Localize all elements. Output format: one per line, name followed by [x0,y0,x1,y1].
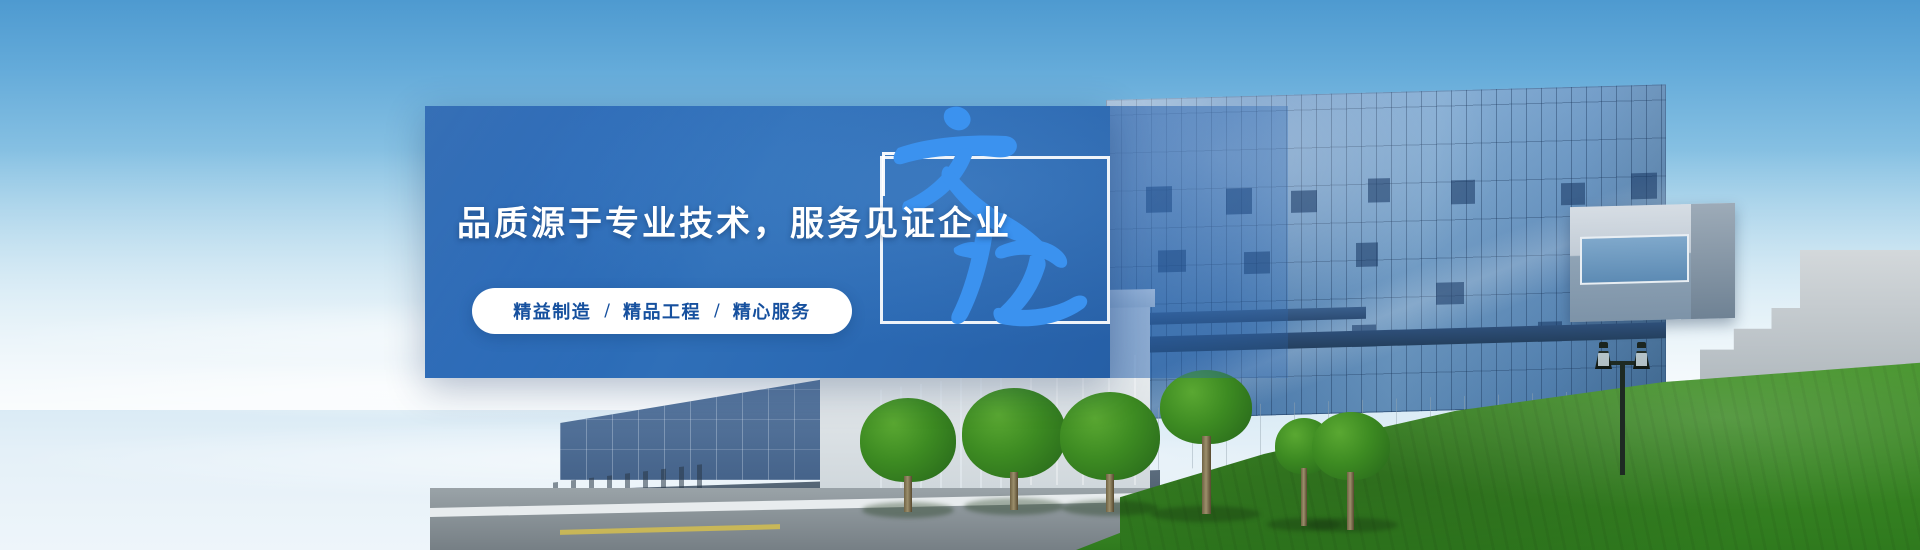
tree [1160,370,1252,520]
lamp-pole [1620,363,1625,475]
cantilever-side [1691,203,1735,319]
tree [860,398,956,518]
lamp-post [1595,345,1651,475]
cantilever-window [1580,234,1689,285]
tree [1312,412,1390,532]
panel-translucent-extension [1110,106,1288,378]
lamp-head [1595,347,1612,369]
lamp-cap [1637,342,1646,348]
slogan-tag-1: 精益制造 [513,298,591,324]
slogan-separator: / [714,301,720,321]
lamp-cap [1599,342,1608,348]
cantilever-box [1570,203,1735,322]
tree [1060,392,1160,518]
slogan-tag-2: 精品工程 [623,298,701,324]
hero-banner: 品质源于专业技术，服务见证企业 精益制造 / 精品工程 / 精心服务 [0,0,1920,550]
corner-bracket-icon [882,152,916,196]
slogan-tag-3: 精心服务 [733,298,811,324]
slogan-pill: 精益制造 / 精品工程 / 精心服务 [472,288,852,334]
page-title: 品质源于专业技术，服务见证企业 [457,196,1012,245]
tree [962,388,1066,516]
lamp-head [1633,347,1650,369]
slogan-separator: / [604,301,610,321]
